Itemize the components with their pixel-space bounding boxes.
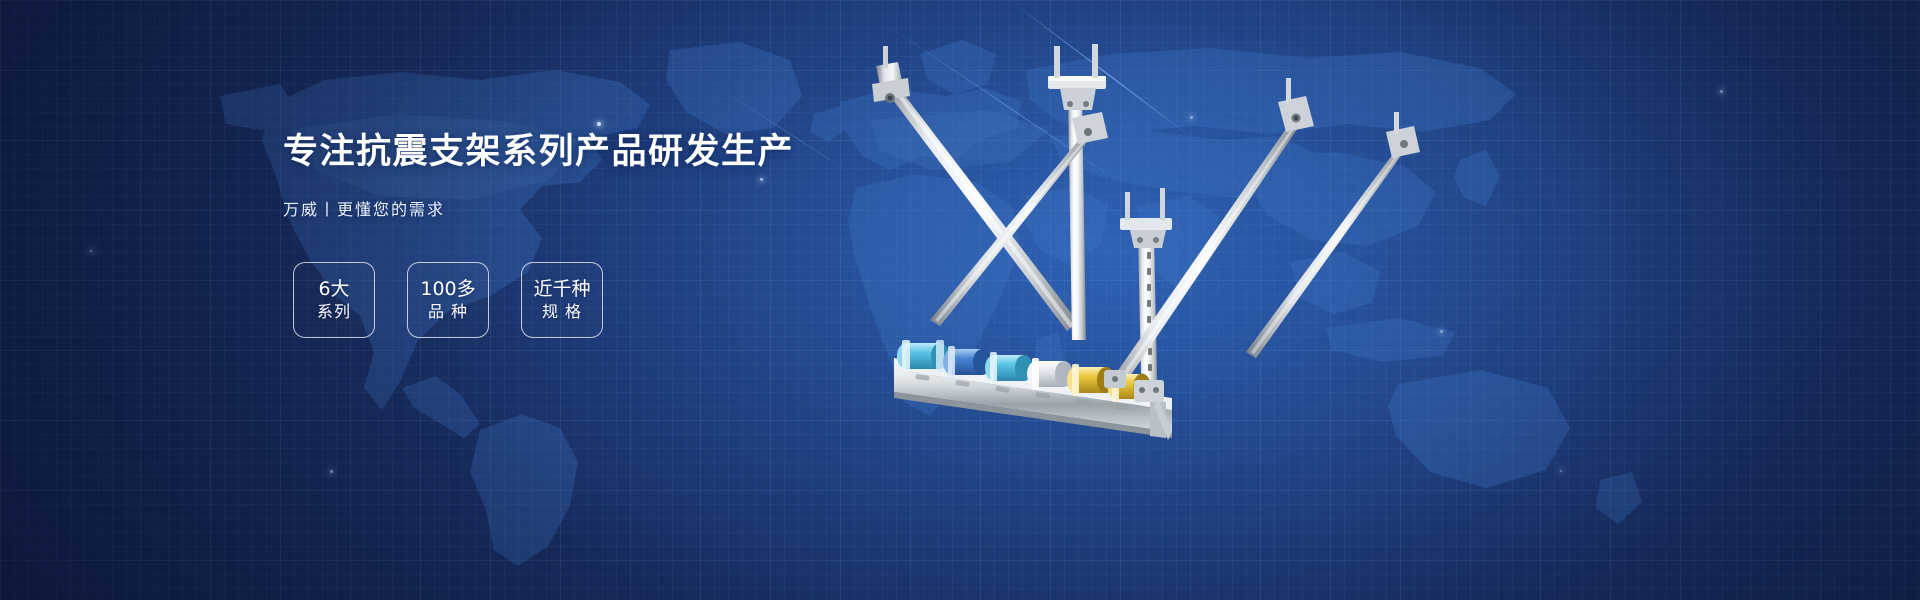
particle-7: [1720, 90, 1723, 93]
badge-specs-count: 近千种: [533, 280, 590, 299]
badge-specs-label: 规 格: [542, 304, 582, 320]
badge-varieties-label: 品 种: [428, 304, 468, 320]
hero-banner: 专注抗震支架系列产品研发生产 万威丨更懂您的需求 6大 系列 100多 品 种 …: [0, 0, 1920, 600]
particle-6: [90, 250, 92, 252]
particle-8: [1560, 470, 1562, 472]
particle-1: [597, 122, 601, 126]
feature-badge-series[interactable]: 6大 系列: [293, 262, 375, 338]
badge-series-count: 6大: [318, 280, 349, 299]
badge-varieties-count: 100多: [420, 280, 475, 299]
feature-badge-specs[interactable]: 近千种 规 格: [521, 262, 603, 338]
product-image-seismic-bracing: [820, 40, 1480, 470]
badge-series-label: 系列: [317, 304, 351, 320]
particle-5: [330, 470, 333, 473]
feature-badge-group: 6大 系列 100多 品 种 近千种 规 格: [293, 262, 603, 338]
feature-badge-varieties[interactable]: 100多 品 种: [407, 262, 489, 338]
banner-copy: 专注抗震支架系列产品研发生产 万威丨更懂您的需求: [283, 132, 823, 220]
banner-headline: 专注抗震支架系列产品研发生产: [283, 132, 823, 172]
banner-subline: 万威丨更懂您的需求: [283, 196, 823, 220]
